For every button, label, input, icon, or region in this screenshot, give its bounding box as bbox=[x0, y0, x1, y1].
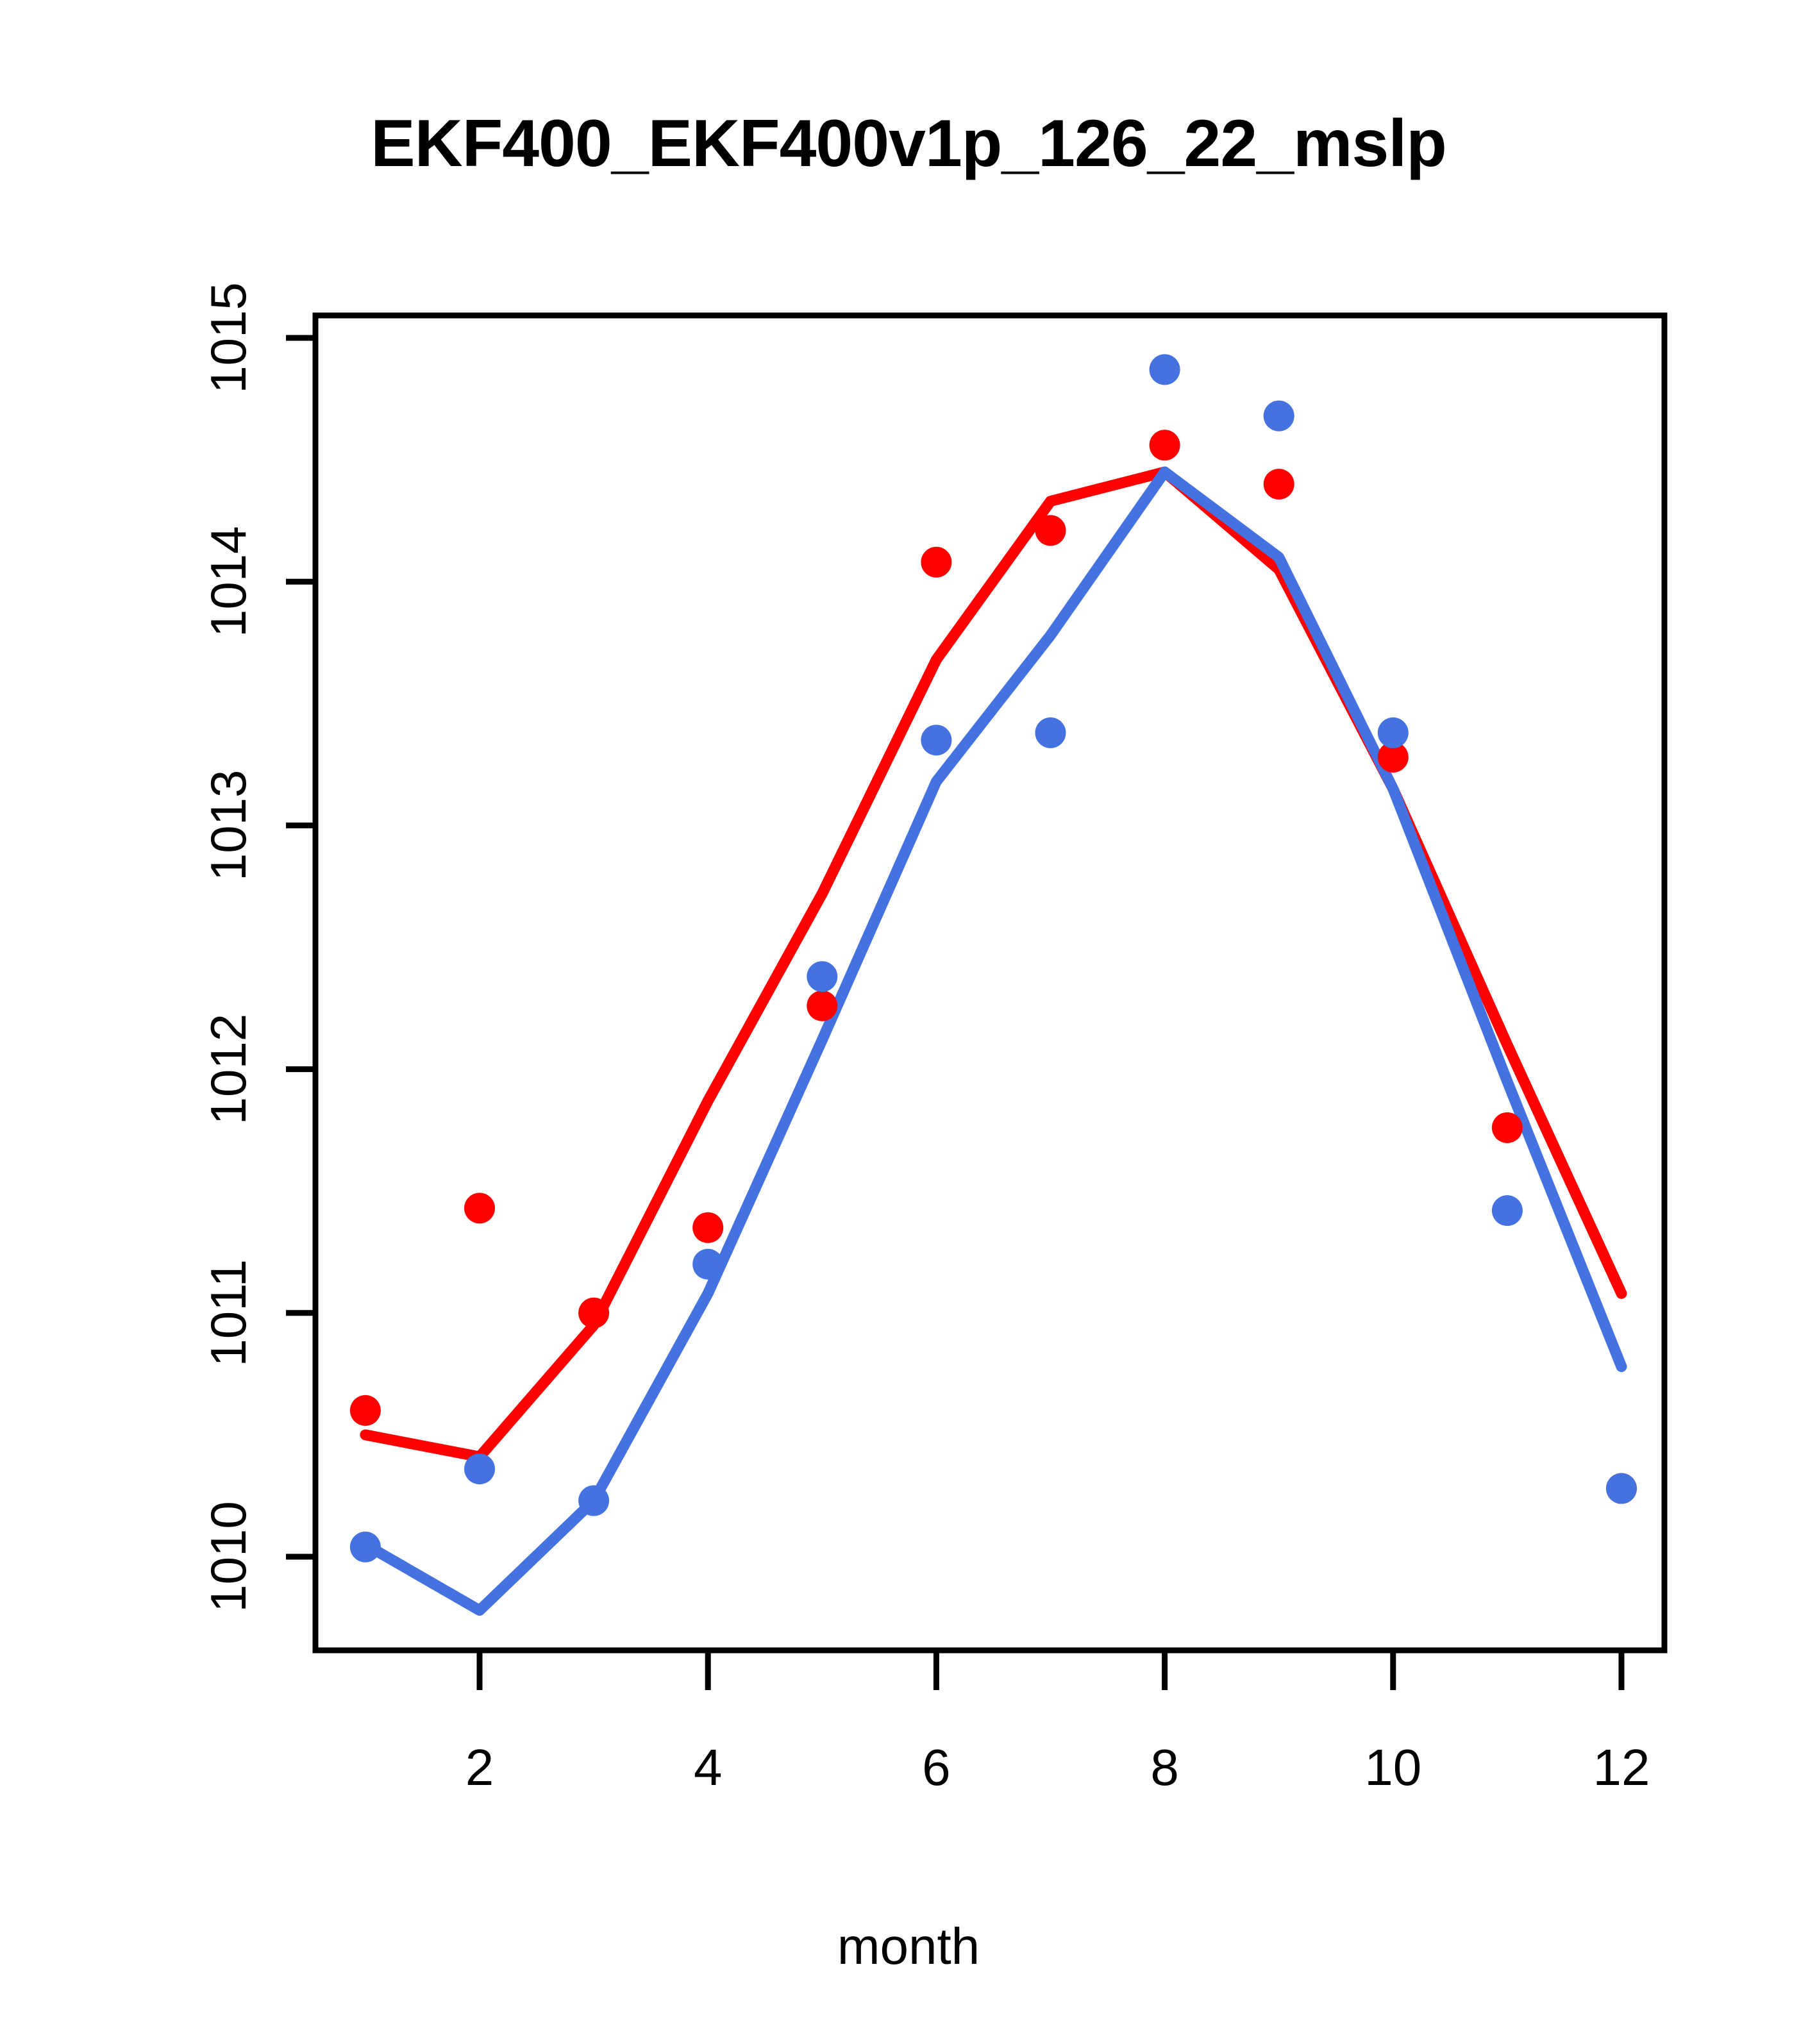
series-line-red-line bbox=[365, 472, 1621, 1457]
y-tick-label: 1011 bbox=[200, 1259, 256, 1367]
data-point bbox=[578, 1486, 609, 1516]
y-tick-label: 1013 bbox=[200, 770, 256, 882]
data-point bbox=[1150, 430, 1180, 460]
data-point bbox=[1492, 1112, 1523, 1143]
data-point bbox=[1035, 515, 1066, 546]
data-point bbox=[350, 1395, 381, 1426]
x-axis-label: month bbox=[0, 1917, 1817, 1976]
y-tick-label: 1014 bbox=[200, 526, 256, 637]
plot-frame bbox=[315, 315, 1664, 1650]
x-tick-label: 10 bbox=[1364, 1739, 1421, 1796]
data-point bbox=[464, 1453, 495, 1484]
axes-group bbox=[315, 315, 1664, 1650]
x-tick-label: 2 bbox=[465, 1739, 494, 1796]
data-point bbox=[921, 725, 951, 755]
data-point bbox=[464, 1193, 495, 1223]
series-group bbox=[350, 354, 1637, 1610]
x-tick-label: 6 bbox=[922, 1739, 951, 1796]
data-point bbox=[692, 1249, 723, 1280]
data-point bbox=[807, 961, 837, 992]
data-point bbox=[350, 1532, 381, 1562]
data-point bbox=[1492, 1195, 1523, 1226]
x-tick-label: 8 bbox=[1150, 1739, 1179, 1796]
data-point bbox=[921, 547, 951, 578]
y-tick-label: 1015 bbox=[200, 282, 256, 394]
y-tick-label: 1010 bbox=[200, 1501, 256, 1613]
data-point bbox=[1150, 354, 1180, 385]
data-point bbox=[1378, 717, 1409, 748]
data-point bbox=[1264, 469, 1294, 499]
chart-page: EKF400_EKF400v1p_126_22_mslp 10101011101… bbox=[0, 0, 1817, 2044]
data-point bbox=[1606, 1473, 1637, 1504]
data-point bbox=[807, 991, 837, 1021]
series-line-blue-line bbox=[365, 472, 1621, 1611]
data-point bbox=[578, 1298, 609, 1328]
data-point bbox=[1264, 401, 1294, 431]
data-point bbox=[692, 1212, 723, 1243]
ticks-group bbox=[286, 338, 1621, 1690]
data-point bbox=[1035, 717, 1066, 748]
x-tick-label: 4 bbox=[694, 1739, 723, 1796]
y-tick-label: 1012 bbox=[200, 1014, 256, 1125]
plot-area: 10101011101210131014101524681012 bbox=[0, 0, 1817, 2044]
series-points-red-points bbox=[350, 430, 1637, 1504]
x-tick-label: 12 bbox=[1593, 1739, 1650, 1796]
